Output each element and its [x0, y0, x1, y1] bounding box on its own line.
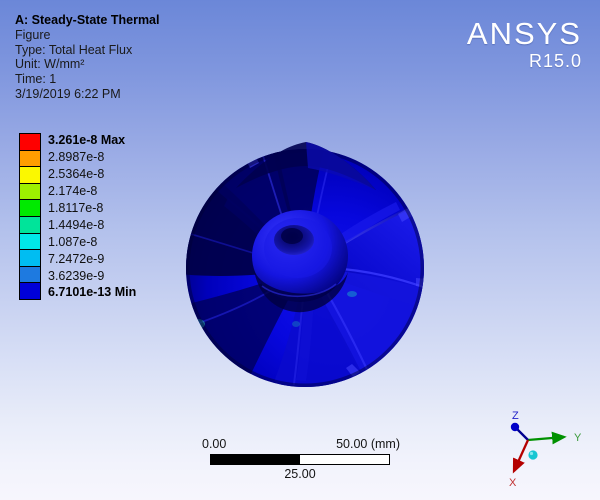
legend-label-9: 6.7101e-13 Min — [48, 286, 136, 299]
triad-origin-highlight — [530, 452, 533, 455]
triad-origin-sphere — [528, 450, 537, 459]
triad-z-node — [511, 423, 519, 431]
legend-band-4 — [20, 200, 40, 217]
scale-max-label: 50.00 (mm) — [336, 437, 400, 451]
scale-min-label: 0.00 — [202, 437, 226, 451]
scale-bar-graphic — [210, 454, 390, 465]
legend-label-5: 1.4494e-8 — [48, 219, 136, 232]
legend-band-6 — [20, 234, 40, 251]
legend-band-1 — [20, 151, 40, 168]
legend-label-8: 3.6239e-9 — [48, 270, 136, 283]
scale-bar: 0.00 50.00 (mm) 25.00 — [200, 437, 400, 483]
legend-label-2: 2.5364e-8 — [48, 168, 136, 181]
time-step-label: Time: 1 — [15, 72, 159, 87]
figure-label: Figure — [15, 28, 159, 43]
timestamp-label: 3/19/2019 6:22 PM — [15, 87, 159, 102]
legend-label-1: 2.8987e-8 — [48, 151, 136, 164]
triad-x-axis — [514, 440, 528, 471]
legend-band-3 — [20, 184, 40, 201]
legend-value-labels: 3.261e-8 Max2.8987e-82.5364e-82.174e-81.… — [48, 133, 136, 300]
triad-z-label: Z — [512, 410, 519, 422]
legend-label-3: 2.174e-8 — [48, 185, 136, 198]
triad-z-axis — [517, 429, 528, 440]
legend-band-5 — [20, 217, 40, 234]
result-unit-label: Unit: W/mm² — [15, 57, 159, 72]
triad-y-label: Y — [574, 432, 582, 444]
legend-color-bar — [19, 133, 41, 300]
legend-label-4: 1.8117e-8 — [48, 202, 136, 215]
legend-label-0: 3.261e-8 Max — [48, 134, 136, 147]
legend-band-8 — [20, 267, 40, 284]
legend-band-2 — [20, 167, 40, 184]
ansys-graphics-viewport[interactable]: A: Steady-State Thermal Figure Type: Tot… — [0, 0, 600, 500]
triad-x-label: X — [509, 477, 517, 489]
ansys-brand-text: ANSYS — [467, 18, 582, 49]
legend-band-7 — [20, 250, 40, 267]
ansys-release-text: R15.0 — [467, 52, 582, 70]
figure-info-block: A: Steady-State Thermal Figure Type: Tot… — [15, 13, 159, 102]
contour-legend[interactable]: 3.261e-8 Max2.8987e-82.5364e-82.174e-81.… — [19, 133, 136, 300]
result-type-label: Type: Total Heat Flux — [15, 43, 159, 58]
legend-label-7: 7.2472e-9 — [48, 253, 136, 266]
analysis-title: A: Steady-State Thermal — [15, 13, 159, 28]
scale-bar-filled-half — [211, 455, 300, 464]
turbine-impeller-model[interactable] — [176, 128, 434, 390]
triad-y-axis — [528, 437, 564, 440]
legend-band-9 — [20, 283, 40, 299]
legend-band-0 — [20, 134, 40, 151]
coordinate-triad[interactable]: Y Z X — [498, 408, 598, 498]
ansys-logo: ANSYS R15.0 — [467, 18, 582, 70]
legend-label-6: 1.087e-8 — [48, 236, 136, 249]
scale-mid-label: 25.00 — [200, 467, 400, 481]
